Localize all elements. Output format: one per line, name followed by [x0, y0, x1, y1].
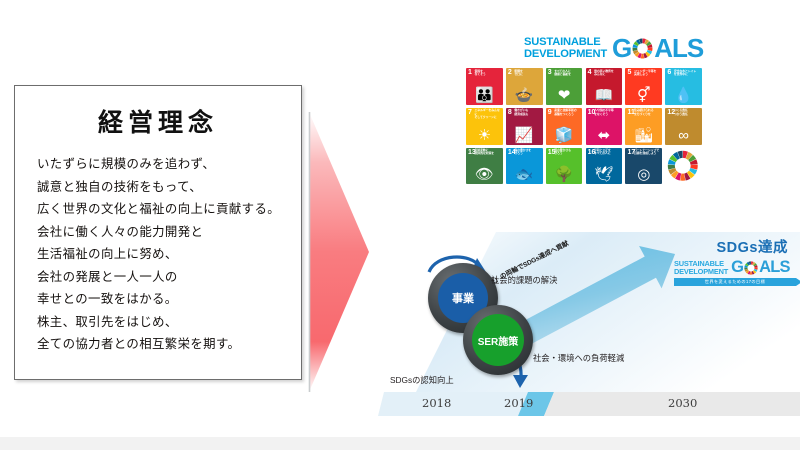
- sdg-goal-number: 4: [588, 69, 592, 76]
- sdg-goal-label: 安全な水とトイレ を世界中に: [674, 70, 701, 76]
- sdg-goal-pictogram-icon: 👁: [466, 167, 503, 183]
- management-philosophy-panel: 経営理念 いたずらに規模のみを追わず、 誠意と独自の技術をもって、 広く世界の文…: [14, 85, 302, 380]
- sdg-color-wheel-icon: [744, 261, 758, 275]
- philosophy-line: 生活福祉の向上に努め、: [37, 243, 301, 266]
- sdg-goal-number: 8: [508, 109, 512, 116]
- sdg-blue-logo-words: SUSTAINABLE DEVELOPMENT: [674, 260, 728, 275]
- sdg-goal-tile-11[interactable]: 11住み続けられる まちづくりを🏙: [625, 108, 662, 145]
- sdg-goal-tile-13[interactable]: 13気候変動に 具体的な対策を👁: [466, 148, 503, 185]
- sdg-goal-pictogram-icon: ☀: [466, 128, 503, 144]
- wheel-ser-inner: SER施策: [472, 314, 524, 366]
- sdg-goal-pictogram-icon: 🕊: [586, 167, 623, 183]
- sdg-header-logo: SUSTAINABLE DEVELOPMENT G ALS: [524, 33, 703, 64]
- sdg-goal-label: 飢餓を ゼロに: [514, 70, 541, 76]
- sdg-goal-tile-14[interactable]: 14海の豊かさを 守ろう🐟: [506, 148, 543, 185]
- sdg-goal-pictogram-icon: 📖: [586, 88, 623, 104]
- sdg-goals-wordmark: G ALS: [612, 33, 703, 64]
- sdg-goals-als: ALS: [654, 33, 703, 64]
- sdg-goal-number: 6: [667, 69, 671, 76]
- philosophy-line: 誠意と独自の技術をもって、: [37, 176, 301, 199]
- timeline-year-2019: 2019: [504, 396, 533, 410]
- sdg-goal-number: 1: [468, 69, 472, 76]
- sdg-goal-tile-4[interactable]: 4質の高い教育を みんなに📖: [586, 68, 623, 105]
- sdg-goal-pictogram-icon: 🏙: [625, 128, 662, 144]
- sdg-goal-pictogram-icon: ⚥: [625, 88, 662, 104]
- sdg-goal-label: 産業と技術革新の 基盤をつくろう: [554, 109, 581, 115]
- sdg-blue-goals-g: G: [731, 258, 743, 277]
- sdg-tagline-bar: 世界を変えるための17の目標: [674, 278, 796, 286]
- sdg-goal-pictogram-icon: 🌳: [546, 167, 583, 183]
- sdg-blue-goals-als: ALS: [759, 258, 790, 277]
- slide-canvas: 経営理念 いたずらに規模のみを追わず、 誠意と独自の技術をもって、 広く世界の文…: [0, 0, 800, 450]
- sdg-blue-line2: DEVELOPMENT: [674, 268, 728, 276]
- sdg-goal-label: 貧困を なくそう: [475, 70, 502, 76]
- sdg-goal-number: 2: [508, 69, 512, 76]
- sdg-goal-tile-1[interactable]: 1貧困を なくそう👪: [466, 68, 503, 105]
- wheel-ser: SER施策: [463, 305, 533, 375]
- sdg-goal-label: 陸の豊かさも 守ろう: [554, 149, 581, 155]
- sdg-goal-tile-5[interactable]: 5ジェンダー平等を 実現しよう⚥: [625, 68, 662, 105]
- sdg-logo-words: SUSTAINABLE DEVELOPMENT: [524, 37, 607, 60]
- sdg-goal-pictogram-icon: 👪: [466, 88, 503, 104]
- sdgs-achieve-title: SDGs達成: [717, 236, 789, 257]
- philosophy-line: 全ての協力者との相互繁栄を期す。: [37, 333, 301, 356]
- sdg-blue-logo: SUSTAINABLE DEVELOPMENT G ALS 世界を変えるための1…: [674, 258, 796, 286]
- sdg-color-wheel-icon: [632, 38, 653, 59]
- bottom-band: [0, 437, 800, 450]
- sdg-logo-line1: SUSTAINABLE: [524, 37, 607, 49]
- philosophy-line: 会社に働く人々の能力開発と: [37, 221, 301, 244]
- sdg-goal-pictogram-icon: ∞: [665, 128, 702, 144]
- sdg-blue-goals-wordmark: G ALS: [731, 258, 790, 277]
- philosophy-line: いたずらに規模のみを追わず、: [37, 153, 301, 176]
- sdg-goal-tile-12[interactable]: 12つくる責任 つかう責任∞: [665, 108, 702, 145]
- sdg-goal-label: 働きがいも 経済成長も: [514, 109, 541, 115]
- sdg-goal-pictogram-icon: 💧: [665, 88, 702, 104]
- timeline-year-2018: 2018: [422, 396, 451, 410]
- philosophy-line: 幸せとの一致をはかる。: [37, 288, 301, 311]
- label-sdgs-awareness: SDGsの認知向上: [390, 374, 454, 386]
- sdg-goal-number: 5: [627, 69, 631, 76]
- timeline-bar: 2018 2019 2030: [378, 392, 800, 416]
- sdg-goal-tile-3[interactable]: 3すべての人に 健康と福祉を❤: [546, 68, 583, 105]
- sdg-goal-label: 平和と公正を すべての人に: [594, 149, 621, 155]
- sdg-goal-label: 海の豊かさを 守ろう: [514, 149, 541, 155]
- sdg-goal-tile-8[interactable]: 8働きがいも 経済成長も📈: [506, 108, 543, 145]
- sdg-goal-label: つくる責任 つかう責任: [674, 109, 701, 115]
- sdg-goal-tile-2[interactable]: 2飢餓を ゼロに🍲: [506, 68, 543, 105]
- sdg-goal-pictogram-icon: 🍲: [506, 88, 543, 104]
- label-social-issue: 社会的課題の解決: [491, 274, 557, 286]
- sdg-goal-grid: 1貧困を なくそう👪2飢餓を ゼロに🍲3すべての人に 健康と福祉を❤4質の高い教…: [466, 68, 702, 184]
- sdg-goal-label: 人や国の不平等 をなくそう: [594, 109, 621, 115]
- philosophy-line: 株主、取引先をはじめ、: [37, 311, 301, 334]
- sdg-goal-pictogram-icon: ◎: [625, 167, 662, 183]
- philosophy-body: いたずらに規模のみを追わず、 誠意と独自の技術をもって、 広く世界の文化と福祉の…: [37, 153, 301, 356]
- label-env-reduction: 社会・環境への負荷軽減: [533, 352, 624, 364]
- sdg-goal-pictogram-icon: ⬌: [586, 128, 623, 144]
- sdg-goal-number: 7: [468, 109, 472, 116]
- sdg-goal-number: 9: [548, 109, 552, 116]
- wheel-ser-label: SER施策: [478, 333, 519, 348]
- sdg-logo-line2: DEVELOPMENT: [524, 49, 607, 61]
- pink-chevron-arrow: [307, 112, 369, 392]
- sdg-goal-label: 質の高い教育を みんなに: [594, 70, 621, 76]
- sdg-goal-label: エネルギーをみんなに そしてクリーンに: [475, 109, 502, 119]
- sdg-color-wheel-tile[interactable]: [665, 148, 702, 185]
- philosophy-line: 会社の発展と一人一人の: [37, 266, 301, 289]
- sdg-goal-tile-7[interactable]: 7エネルギーをみんなに そしてクリーンに☀: [466, 108, 503, 145]
- sdg-goal-tile-17[interactable]: 17パートナーシップで 目標を達成しよう◎: [625, 148, 662, 185]
- sdg-goal-pictogram-icon: 📈: [506, 128, 543, 144]
- sdg-goal-label: 気候変動に 具体的な対策を: [475, 149, 502, 155]
- sdg-goal-tile-9[interactable]: 9産業と技術革新の 基盤をつくろう🧊: [546, 108, 583, 145]
- sdg-goal-pictogram-icon: 🧊: [546, 128, 583, 144]
- sdg-goal-number: 3: [548, 69, 552, 76]
- sdg-goal-tile-16[interactable]: 16平和と公正を すべての人に🕊: [586, 148, 623, 185]
- sdg-goal-label: パートナーシップで 目標を達成しよう: [634, 149, 661, 155]
- sdg-goals-g: G: [612, 33, 631, 64]
- sdg-goal-label: ジェンダー平等を 実現しよう: [634, 70, 661, 76]
- sdg-goal-pictogram-icon: ❤: [546, 88, 583, 104]
- page-title: 経営理念: [15, 103, 301, 139]
- sdg-goal-tile-6[interactable]: 6安全な水とトイレ を世界中に💧: [665, 68, 702, 105]
- sdg-goal-pictogram-icon: 🐟: [506, 167, 543, 183]
- wheel-business-label: 事業: [452, 290, 474, 306]
- sdg-goal-label: 住み続けられる まちづくりを: [634, 109, 661, 115]
- sdg-goal-tile-10[interactable]: 10人や国の不平等 をなくそう⬌: [586, 108, 623, 145]
- timeline-year-2030: 2030: [668, 396, 697, 410]
- sdg-goal-tile-15[interactable]: 15陸の豊かさも 守ろう🌳: [546, 148, 583, 185]
- sdg-goal-label: すべての人に 健康と福祉を: [554, 70, 581, 76]
- philosophy-line: 広く世界の文化と福祉の向上に貢献する。: [37, 198, 301, 221]
